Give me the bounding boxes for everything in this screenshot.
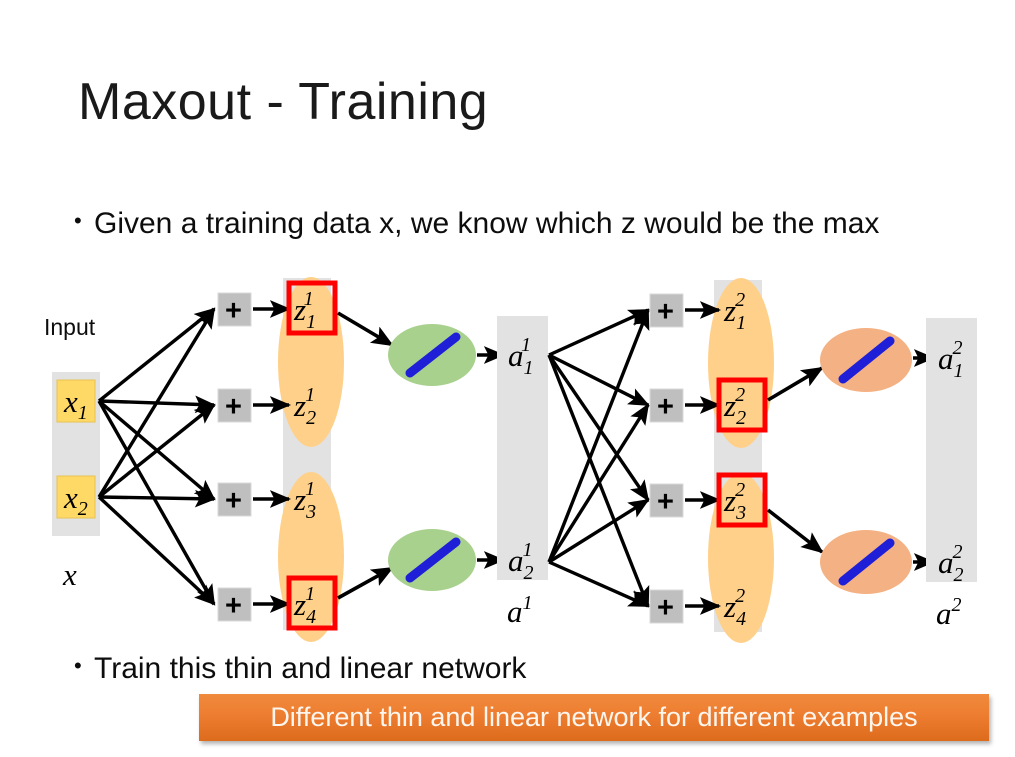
layer2-plus-box-4: + [650,590,683,624]
input-caption: Input [44,314,96,340]
layer1-plus-box-2: + [218,389,251,423]
layer2-linear-activation-1 [820,328,912,392]
layer1-linear-activation-2 [388,529,476,591]
slide-canvas: Maxout - Training • Given a training dat… [0,0,1015,757]
layer1-z1-label: z11 [293,288,315,333]
svg-text:+: + [657,391,674,423]
svg-text:+: + [657,592,674,624]
layer2-z2-label: z22 [723,384,746,429]
layer1-plus-box-4: + [218,588,251,622]
svg-text:+: + [225,590,242,622]
maxout-network-diagram: x1 x2 Input x [0,0,1015,757]
layer2-z3-label: z32 [723,479,746,524]
svg-text:+: + [225,391,242,423]
layer1-z4-label: z41 [293,583,316,628]
layer2-plus-box-1: + [650,294,683,328]
layer2-z4-label: z42 [723,585,746,630]
layer1-a-column: a11 a21 [497,316,548,584]
svg-text:+: + [225,485,242,517]
edges-layer2-z-to-activation [768,368,822,552]
layer2-a2-label: a22 [938,541,964,586]
svg-text:+: + [225,295,242,327]
layer2-a-column: a12 a22 [926,318,977,586]
layer1-plus-box-3: + [218,483,251,517]
layer2-z1-label: z12 [723,289,746,334]
layer1-a-vector-label: a1 [507,592,533,629]
layer1-a2-label: a21 [508,539,534,584]
svg-text:+: + [657,296,674,328]
layer1-sum-units: + + + + [218,293,251,622]
layer1-a1-label: a11 [508,334,532,379]
layer1-linear-activation-1 [388,324,476,386]
layer2-plus-box-3: + [650,484,683,518]
layer1-plus-box-1: + [218,293,251,327]
edges-input-to-layer1 [99,309,214,604]
layer2-a1-label: a12 [938,337,964,382]
edges-layer1-z-to-activation [338,313,392,598]
input-vector-label: x [62,557,77,592]
layer1-z2-label: z21 [293,384,316,429]
layer2-sum-units: + + + + [650,294,683,624]
input-vector-column: x1 x2 [52,372,100,536]
svg-text:+: + [657,486,674,518]
layer1-z3-label: z31 [293,478,316,523]
edges-layer1a-to-layer2 [549,310,648,606]
layer2-plus-box-2: + [650,389,683,423]
layer2-linear-activation-2 [820,530,912,594]
layer2-a-vector-label: a2 [936,594,962,631]
